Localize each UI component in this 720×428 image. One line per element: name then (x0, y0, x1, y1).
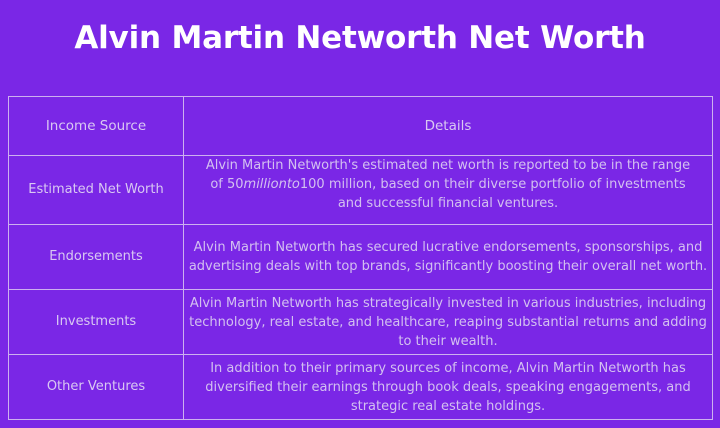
income-source-label: Investments (9, 290, 184, 355)
page-title: Alvin Martin Networth Net Worth (0, 18, 720, 58)
table-row: Investments Alvin Martin Networth has st… (9, 290, 713, 355)
table-row: Endorsements Alvin Martin Networth has s… (9, 225, 713, 290)
table-row: Other Ventures In addition to their prim… (9, 355, 713, 420)
column-header-details: Details (184, 97, 713, 156)
table-header-row: Income Source Details (9, 97, 713, 156)
details-text: Alvin Martin Networth has secured lucrat… (184, 225, 713, 290)
net-worth-infographic: Alvin Martin Networth Net Worth Income S… (0, 0, 720, 428)
details-text: Alvin Martin Networth has strategically … (184, 290, 713, 355)
details-text: Alvin Martin Networth's estimated net wo… (184, 156, 713, 225)
income-source-label: Endorsements (9, 225, 184, 290)
income-source-label: Other Ventures (9, 355, 184, 420)
details-text: In addition to their primary sources of … (184, 355, 713, 420)
details-text-italic-fragment: millionto (244, 177, 300, 192)
net-worth-table: Income Source Details Estimated Net Wort… (8, 96, 713, 420)
income-source-label: Estimated Net Worth (9, 156, 184, 225)
table-row: Estimated Net Worth Alvin Martin Networt… (9, 156, 713, 225)
column-header-income-source: Income Source (9, 97, 184, 156)
details-text-suffix: 100 million, based on their diverse port… (300, 177, 686, 211)
